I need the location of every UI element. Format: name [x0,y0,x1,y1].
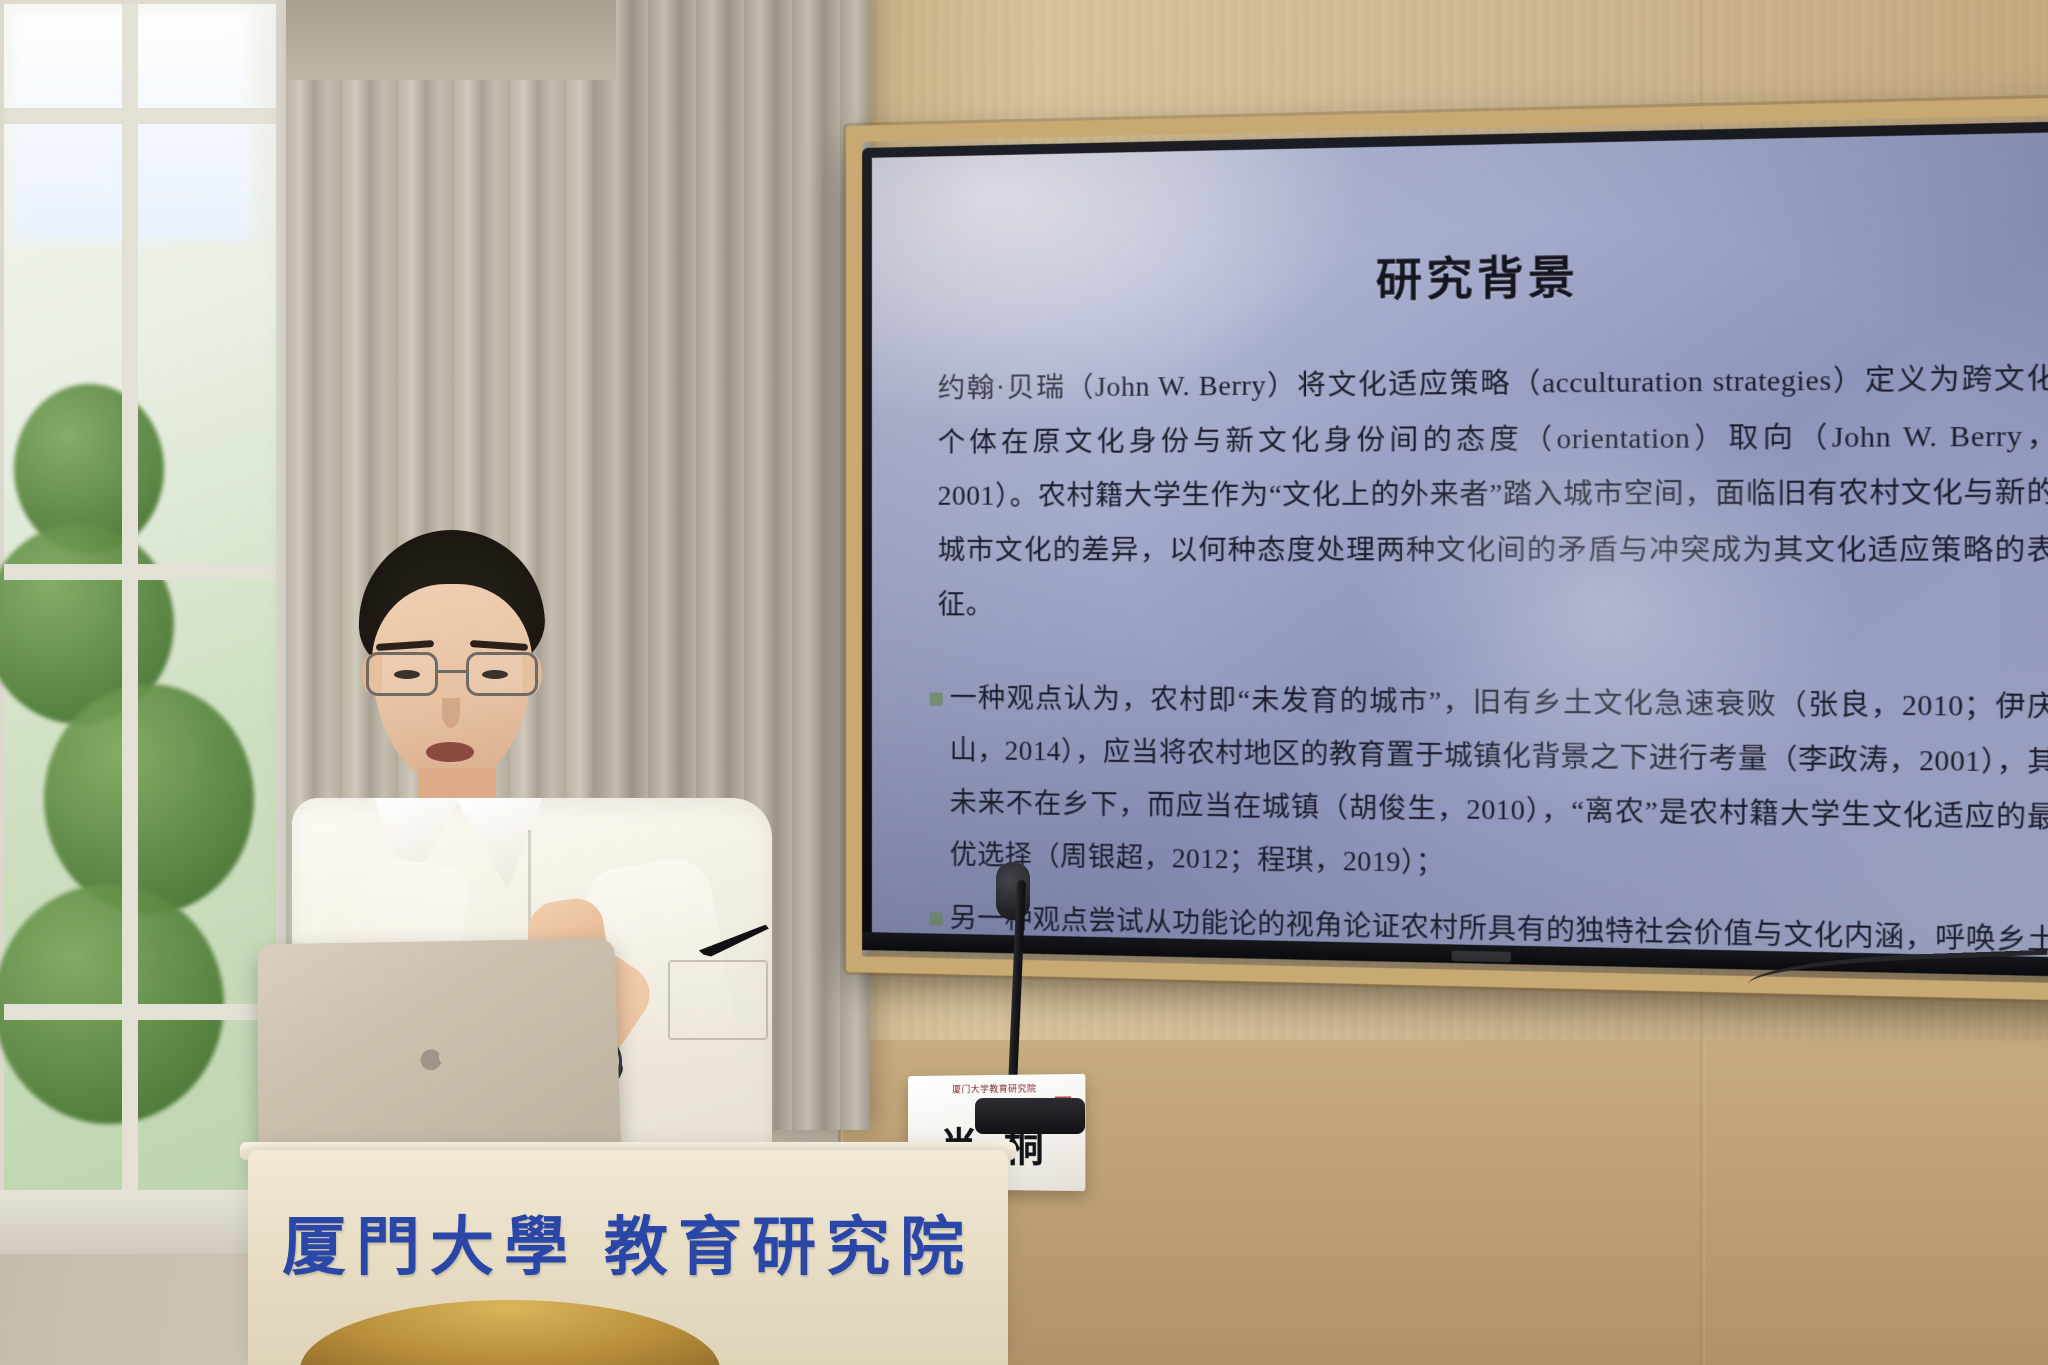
apple-bite [439,1049,455,1065]
window-mullion-horizontal-mid [4,564,276,580]
presentation-photo-scene: 研究背景 约翰·贝瑞（John W. Berry）将文化适应策略（accultu… [0,0,2048,1365]
apple-logo-icon [408,1035,454,1089]
presenter-mouth [426,742,474,762]
window-mullion-vertical [122,4,138,1216]
podium-institution-label: 厦門大學 教育研究院 [248,1196,1008,1288]
gooseneck-microphone-base [975,1098,1085,1134]
tv-wooden-frame [846,96,2048,1003]
window-mullion-horizontal-top [4,108,276,124]
foliage-3 [44,684,254,914]
eyeglass-bridge [438,670,466,673]
apple-glyph [414,1035,448,1075]
eyeglasses [362,652,544,698]
window-mullion-horizontal-low [4,1004,276,1020]
shirt-pocket [668,960,768,1040]
eyeglass-lens-right [466,652,538,696]
curtain-valance [286,0,616,80]
window [0,0,290,1230]
nameplate-organization: 厦门大学教育研究院 [918,1081,1074,1098]
eyeglass-lens-left [366,652,438,696]
window-sill [0,1190,290,1254]
presenter-nose [442,698,460,728]
